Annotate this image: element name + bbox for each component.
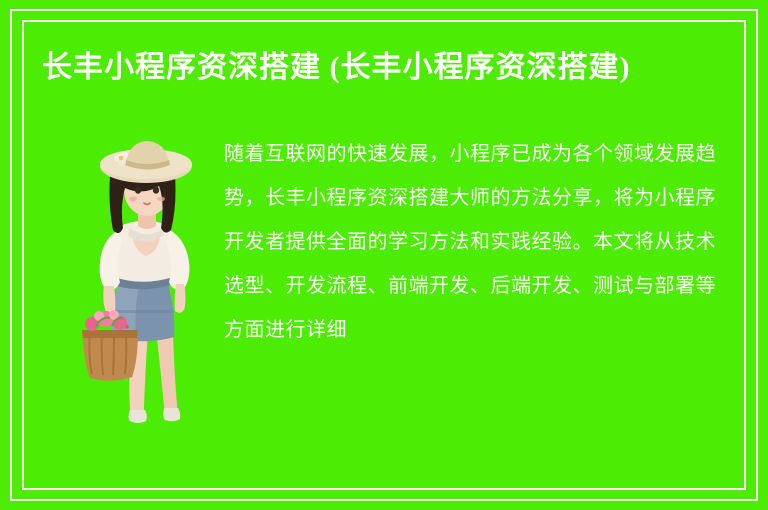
article-body: 随着互联网的快速发展，小程序已成为各个领域发展趋势，长丰小程序资深搭建大师的方法… [42,112,732,412]
page-title: 长丰小程序资深搭建 (长丰小程序资深搭建) [42,46,714,90]
woman-with-hat-illustration [60,134,236,424]
article-paragraph: 随着互联网的快速发展，小程序已成为各个领域发展趋势，长丰小程序资深搭建大师的方法… [224,132,716,352]
article-card: 长丰小程序资深搭建 (长丰小程序资深搭建) [0,0,768,510]
article-content: 长丰小程序资深搭建 (长丰小程序资深搭建) [42,46,732,484]
